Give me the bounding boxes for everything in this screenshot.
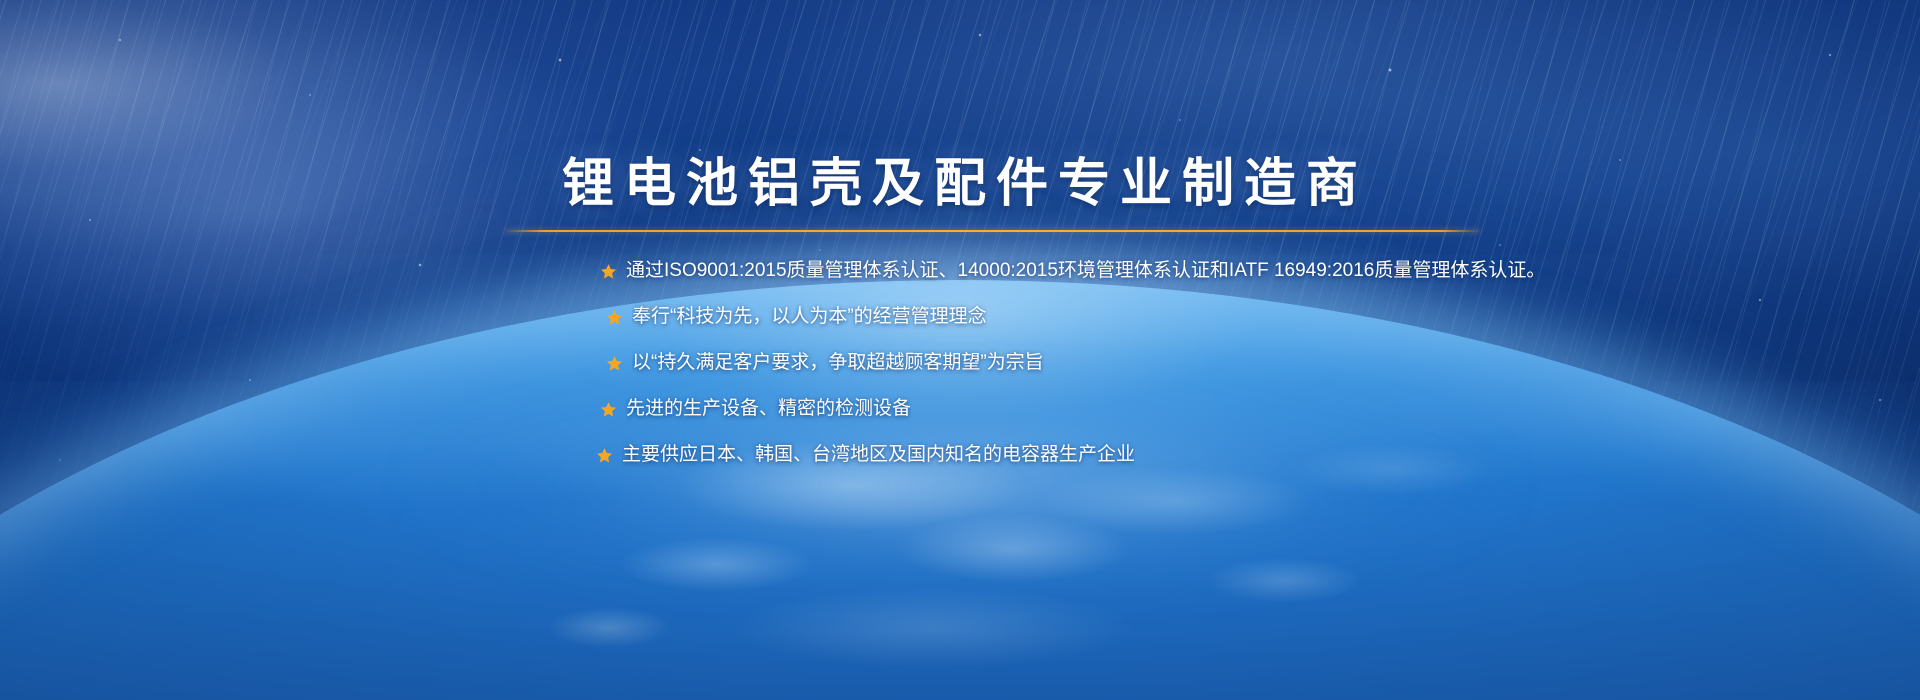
star-icon — [600, 263, 617, 280]
banner-title: 锂电池铝壳及配件专业制造商 — [0, 152, 1920, 216]
list-item-label: 先进的生产设备、精密的检测设备 — [626, 386, 911, 432]
list-item-label: 通过ISO9001:2015质量管理体系认证、14000:2015环境管理体系认… — [626, 248, 1545, 294]
list-item: 通过ISO9001:2015质量管理体系认证、14000:2015环境管理体系认… — [600, 248, 1700, 294]
star-icon — [596, 447, 613, 464]
star-icon — [606, 309, 623, 326]
list-item-label: 以“持久满足客户要求，争取超越顾客期望”为宗旨 — [632, 340, 1044, 386]
list-item: 以“持久满足客户要求，争取超越顾客期望”为宗旨 — [606, 340, 1700, 386]
feature-list: 通过ISO9001:2015质量管理体系认证、14000:2015环境管理体系认… — [600, 248, 1700, 478]
hero-banner: 锂电池铝壳及配件专业制造商 通过ISO9001:2015质量管理体系认证、140… — [0, 0, 1920, 700]
list-item-label: 主要供应日本、韩国、台湾地区及国内知名的电容器生产企业 — [622, 432, 1135, 478]
list-item: 主要供应日本、韩国、台湾地区及国内知名的电容器生产企业 — [596, 432, 1700, 478]
list-item-label: 奉行“科技为先，以人为本”的经营管理理念 — [632, 294, 987, 340]
star-icon — [606, 355, 623, 372]
star-icon — [600, 401, 617, 418]
list-item: 奉行“科技为先，以人为本”的经营管理理念 — [606, 294, 1700, 340]
title-divider — [505, 230, 1480, 232]
banner-content: 锂电池铝壳及配件专业制造商 通过ISO9001:2015质量管理体系认证、140… — [0, 0, 1920, 700]
list-item: 先进的生产设备、精密的检测设备 — [600, 386, 1700, 432]
